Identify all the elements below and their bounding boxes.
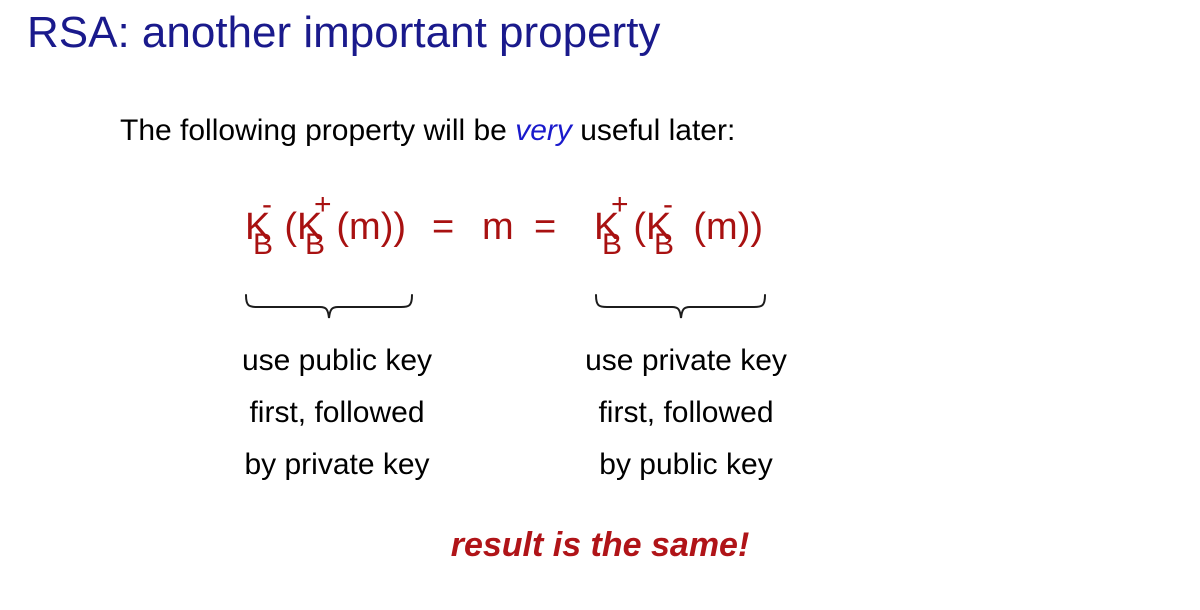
formula-row: K-B(K+B(m)) = m = K+B(K-B(m)) (0, 206, 1200, 288)
equals-sign-first: = (432, 206, 454, 249)
message-symbol-left: m (349, 206, 381, 249)
key-superscript-plus: + (611, 190, 629, 220)
key-inner-right: K-B (646, 206, 671, 249)
subtitle-text-after: useful later: (572, 114, 735, 147)
underbrace-right (593, 292, 768, 326)
caption-left-line-2: first, followed (200, 387, 474, 439)
close-paren-inner-right: ) (738, 206, 751, 249)
key-inner-left: K+B (297, 206, 322, 249)
subtitle-emphasis: very (515, 114, 572, 147)
underbrace-left (243, 292, 415, 326)
caption-right-line-1: use private key (545, 335, 827, 387)
open-paren-outer-left: ( (284, 206, 297, 249)
caption-right-line-2: first, followed (545, 387, 827, 439)
open-paren-inner-left: ( (336, 206, 349, 249)
key-superscript-plus: + (314, 190, 332, 220)
page-title: RSA: another important property (27, 8, 660, 57)
open-paren-outer-right: ( (633, 206, 646, 249)
caption-left-line-3: by private key (200, 439, 474, 491)
conclusion-text: result is the same! (0, 526, 1200, 565)
close-paren-inner-left: ) (381, 206, 394, 249)
caption-right: use private key first, followed by publi… (545, 335, 827, 491)
message-symbol-middle: m (482, 206, 514, 249)
open-paren-inner-right: ( (693, 206, 706, 249)
key-superscript-minus: - (262, 190, 272, 220)
key-outer-left: K-B (245, 206, 270, 249)
close-paren-outer-left: ) (393, 206, 406, 249)
key-subscript-b: B (305, 230, 325, 260)
message-symbol-right: m (706, 206, 738, 249)
key-superscript-minus: - (663, 190, 673, 220)
formula-left-side: K-B(K+B(m)) (245, 206, 406, 249)
subtitle-text-before: The following property will be (120, 114, 515, 147)
key-outer-right: K+B (594, 206, 619, 249)
subtitle-line: The following property will be very usef… (120, 113, 735, 149)
key-subscript-b: B (602, 230, 622, 260)
formula-right-side: K+B(K-B(m)) (594, 206, 763, 249)
equals-sign-second: = (534, 206, 556, 249)
caption-left: use public key first, followed by privat… (200, 335, 474, 491)
caption-right-line-3: by public key (545, 439, 827, 491)
key-subscript-b: B (654, 230, 674, 260)
close-paren-outer-right: ) (750, 206, 763, 249)
caption-left-line-1: use public key (200, 335, 474, 387)
key-subscript-b: B (253, 230, 273, 260)
